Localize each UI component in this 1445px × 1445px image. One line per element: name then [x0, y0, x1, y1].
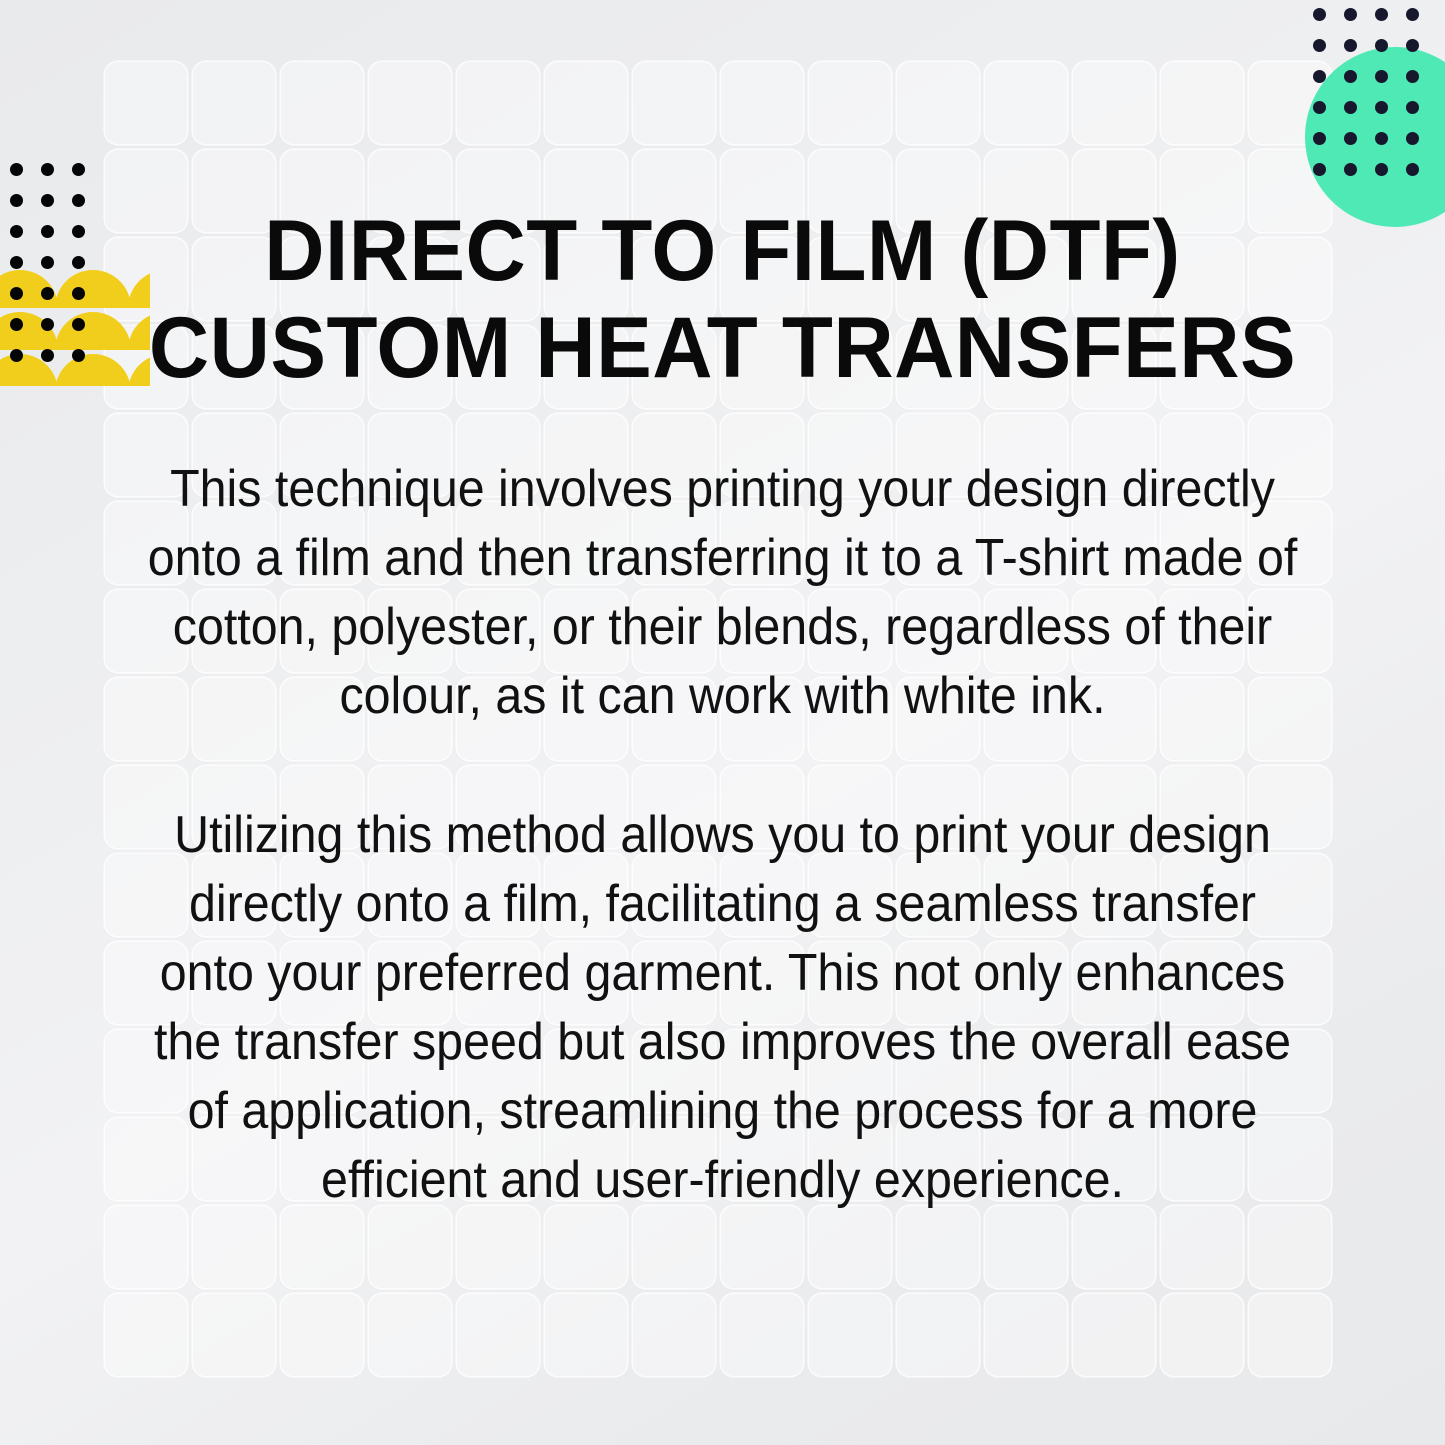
poster-canvas: DIRECT TO FILM (DTF) CUSTOM HEAT TRANSFE… — [0, 0, 1445, 1445]
page-title-line-2: CUSTOM HEAT TRANSFERS — [22, 300, 1424, 397]
content-area: DIRECT TO FILM (DTF) CUSTOM HEAT TRANSFE… — [0, 0, 1445, 1445]
body-paragraph-2: Utilizing this method allows you to prin… — [139, 801, 1306, 1215]
body-paragraph-1: This technique involves printing your de… — [139, 455, 1306, 731]
page-title-line-1: DIRECT TO FILM (DTF) — [22, 203, 1424, 300]
body-text-block: This technique involves printing your de… — [139, 455, 1306, 1215]
page-title: DIRECT TO FILM (DTF) CUSTOM HEAT TRANSFE… — [22, 203, 1424, 397]
